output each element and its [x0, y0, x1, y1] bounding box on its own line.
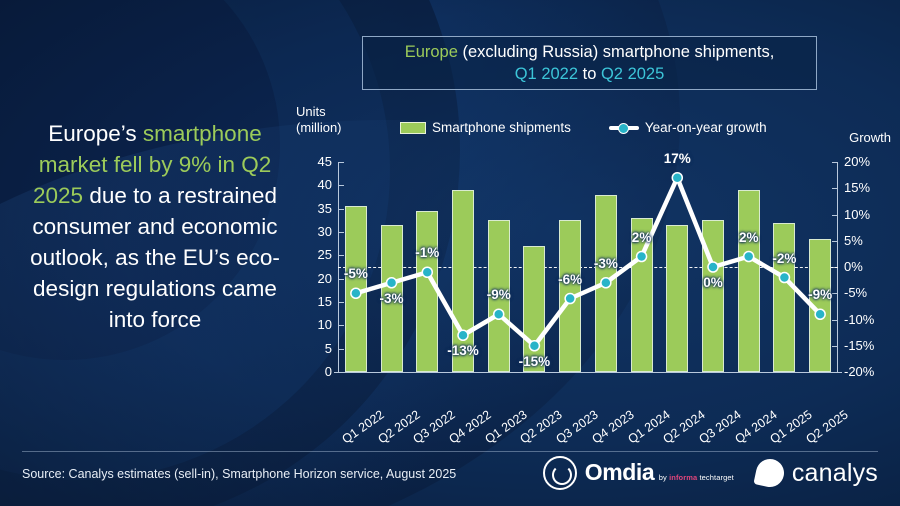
data-point[interactable] — [601, 278, 611, 288]
y2-tick-label: -15% — [844, 338, 874, 353]
data-point[interactable] — [565, 294, 575, 304]
title-rest: (excluding Russia) smartphone shipments, — [458, 43, 774, 61]
legend-label-bars: Smartphone shipments — [432, 120, 571, 135]
y-tick-label: 20 — [318, 271, 332, 286]
chart-title-line1: Europe (excluding Russia) smartphone shi… — [405, 41, 775, 63]
title-period-sep: to — [578, 65, 601, 83]
data-label: -3% — [380, 291, 404, 306]
logo-row: Omdia by informa techtarget canalys — [543, 456, 878, 490]
y-tick-label: 5 — [325, 341, 332, 356]
y2-tick-label: -10% — [844, 312, 874, 327]
data-label: 17% — [664, 151, 691, 166]
left-axis-title-line2: (million) — [296, 120, 342, 136]
data-label: 2% — [632, 230, 652, 245]
data-label: -2% — [772, 251, 796, 266]
canalys-mark-icon — [753, 456, 786, 489]
data-label: -5% — [344, 266, 368, 281]
data-point[interactable] — [387, 278, 397, 288]
data-point[interactable] — [744, 252, 754, 262]
data-label: 2% — [739, 230, 759, 245]
data-label: -1% — [415, 245, 439, 260]
data-point[interactable] — [815, 309, 825, 319]
legend-item-line: Year-on-year growth — [609, 120, 767, 135]
lead-paragraph: Europe’s smartphone market fell by 9% in… — [14, 118, 296, 335]
y-tick-label: 35 — [318, 201, 332, 216]
combo-chart: Units (million) Growth Smartphone shipme… — [296, 104, 891, 449]
title-period-start: Q1 2022 — [515, 65, 578, 83]
title-region: Europe — [405, 43, 458, 61]
left-axis-title-line1: Units — [296, 104, 342, 120]
y2-tick — [832, 372, 838, 373]
data-label: -3% — [594, 256, 618, 271]
data-point[interactable] — [529, 341, 539, 351]
y2-tick-label: -5% — [844, 285, 867, 300]
omdia-wordmark: Omdia — [585, 459, 655, 485]
lead-text-part1: Europe’s — [48, 121, 143, 146]
line-marker-icon — [609, 122, 639, 134]
y2-tick-label: 0% — [844, 259, 863, 274]
right-axis-title: Growth — [849, 130, 891, 146]
data-point[interactable] — [458, 330, 468, 340]
omdia-logo: Omdia by informa techtarget — [543, 456, 734, 490]
footer-divider — [22, 451, 878, 452]
data-label: -9% — [808, 287, 832, 302]
omdia-tagline: by informa techtarget — [659, 473, 734, 482]
title-period-end: Q2 2025 — [601, 65, 664, 83]
data-label: -9% — [487, 287, 511, 302]
bar-swatch-icon — [400, 122, 426, 134]
y-tick — [338, 372, 344, 373]
y-tick-label: 45 — [318, 154, 332, 169]
data-point[interactable] — [637, 252, 647, 262]
y-tick-label: 15 — [318, 294, 332, 309]
y2-tick-label: 10% — [844, 207, 870, 222]
data-point[interactable] — [351, 288, 361, 298]
y2-tick-label: 15% — [844, 180, 870, 195]
y-tick-label: 40 — [318, 177, 332, 192]
data-label: -15% — [519, 354, 551, 369]
canalys-logo: canalys — [756, 459, 878, 488]
y-tick-label: 30 — [318, 224, 332, 239]
source-note: Source: Canalys estimates (sell-in), Sma… — [22, 467, 456, 481]
y2-tick-label: 5% — [844, 233, 863, 248]
y2-tick-label: -20% — [844, 364, 874, 379]
chart-title-box: Europe (excluding Russia) smartphone shi… — [362, 36, 817, 90]
y-tick-label: 25 — [318, 247, 332, 262]
data-point[interactable] — [494, 309, 504, 319]
growth-line-series — [338, 162, 838, 372]
legend-item-bars: Smartphone shipments — [400, 120, 571, 135]
data-label: 0% — [703, 275, 723, 290]
left-axis-title: Units (million) — [296, 104, 342, 136]
legend-label-line: Year-on-year growth — [645, 120, 767, 135]
data-point[interactable] — [672, 173, 682, 183]
data-label: -6% — [558, 272, 582, 287]
chart-legend: Smartphone shipments Year-on-year growth — [400, 120, 767, 135]
y2-tick-label: 20% — [844, 154, 870, 169]
data-point[interactable] — [708, 262, 718, 272]
data-point[interactable] — [422, 267, 432, 277]
canalys-wordmark: canalys — [792, 459, 878, 488]
plot-area: 051015202530354045 -20%-15%-10%-5%0%5%10… — [338, 162, 838, 372]
y-tick-label: 0 — [325, 364, 332, 379]
y-tick-label: 10 — [318, 317, 332, 332]
chart-title-line2: Q1 2022 to Q2 2025 — [515, 63, 665, 85]
data-point[interactable] — [779, 273, 789, 283]
omdia-mark-icon — [543, 456, 577, 490]
data-label: -13% — [447, 343, 479, 358]
